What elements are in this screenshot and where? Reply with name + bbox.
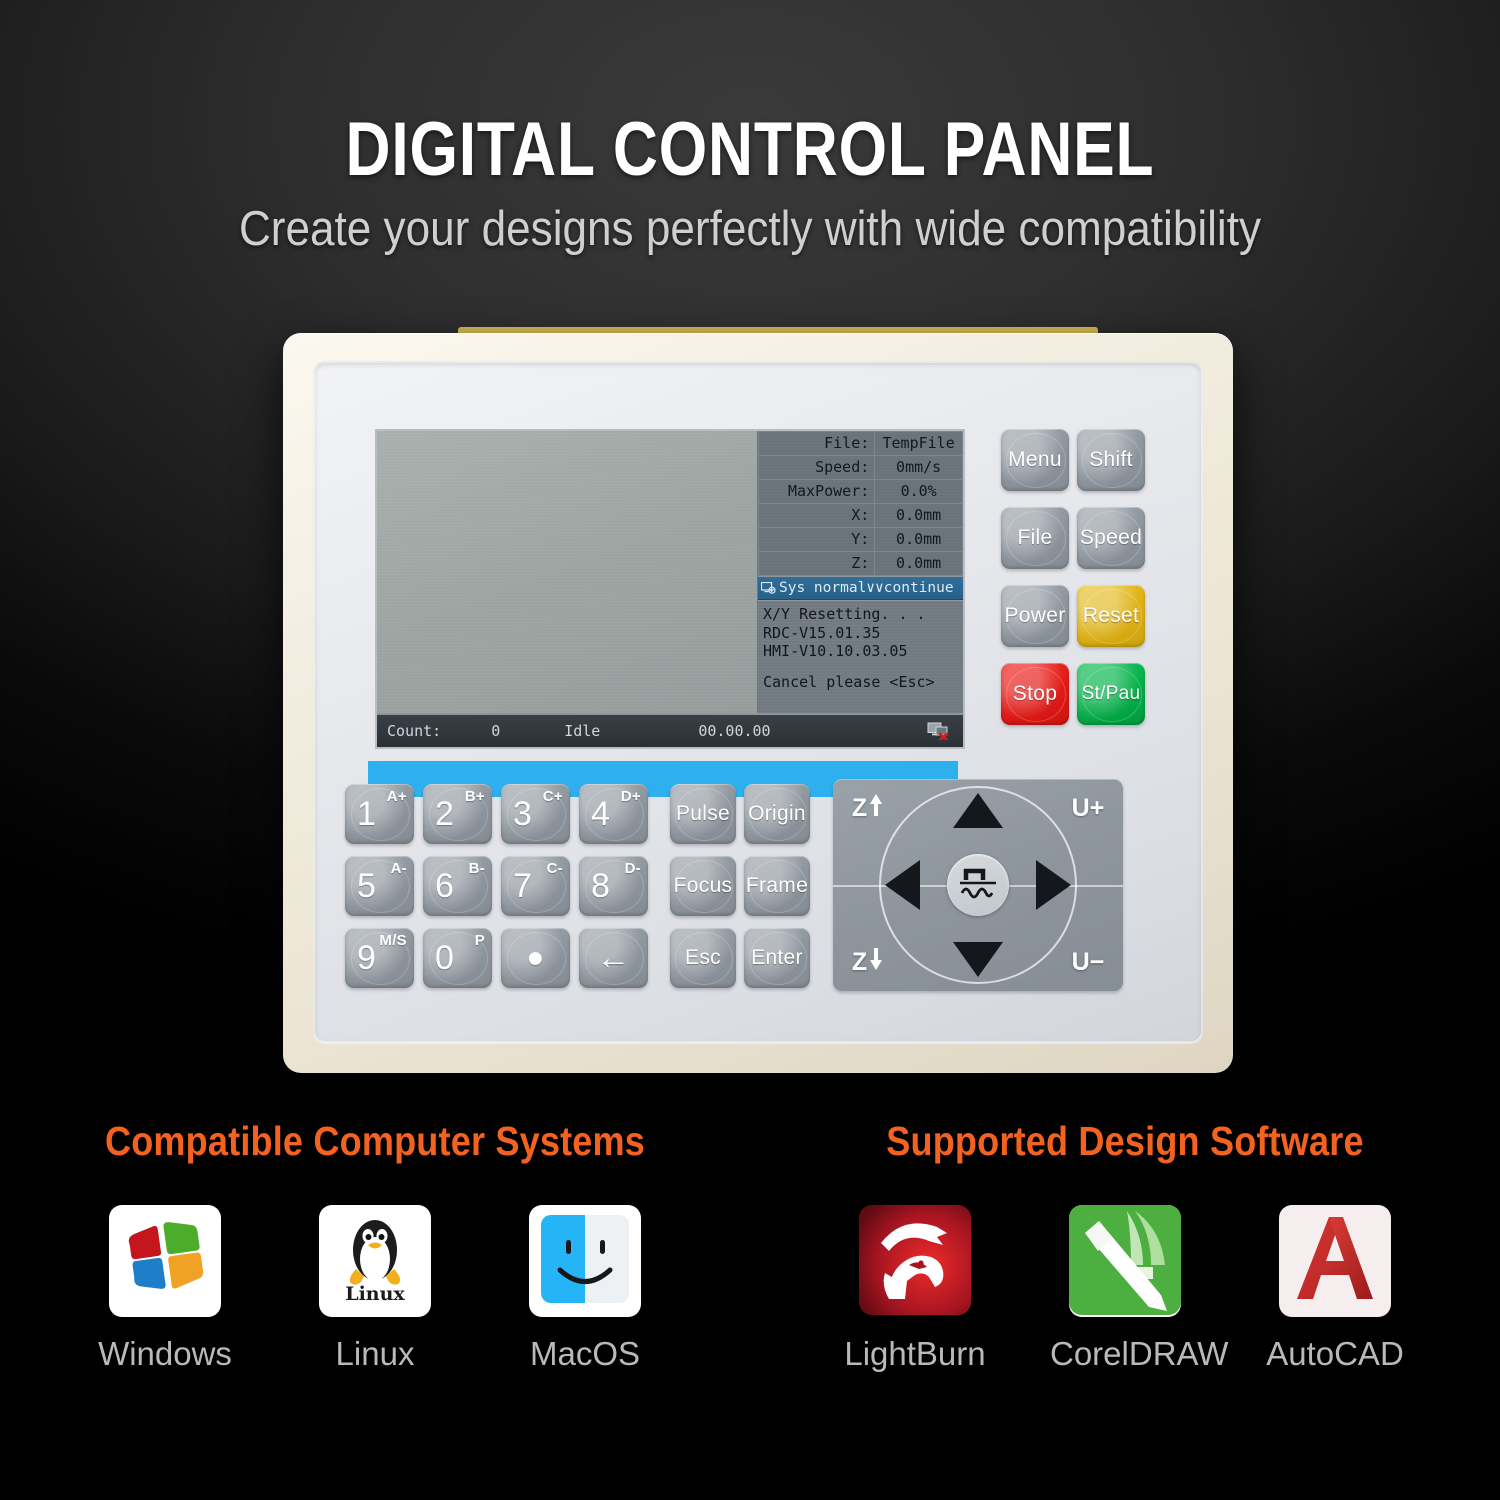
- origin-button[interactable]: Origin: [744, 784, 810, 844]
- device-face: File: TempFile Speed: 0mm/s MaxPower: 0.…: [313, 361, 1203, 1043]
- param-key: Speed:: [759, 456, 875, 480]
- lightburn-logo-tile: [859, 1205, 971, 1317]
- count-label: Count:: [387, 722, 441, 740]
- key-shift-label: A-: [391, 860, 407, 877]
- key-digit: 9: [357, 939, 376, 978]
- button-label: Shift: [1089, 448, 1133, 472]
- frame-button[interactable]: Frame: [744, 856, 810, 916]
- param-value: 0.0mm: [875, 504, 963, 528]
- table-row: File: TempFile: [759, 432, 963, 456]
- list-item: CorelDRAW: [1050, 1205, 1200, 1373]
- list-item: Linux Linux: [300, 1205, 450, 1373]
- start-pause-button[interactable]: St/Pau: [1077, 663, 1145, 725]
- numeric-key-1[interactable]: 1 A+: [345, 784, 414, 844]
- u-minus-button[interactable]: U−: [1061, 941, 1115, 983]
- key-digit: 6: [435, 867, 454, 906]
- pulse-waveform-button[interactable]: [947, 854, 1009, 916]
- windows-logo-tile: [109, 1205, 221, 1317]
- enter-button[interactable]: Enter: [744, 928, 810, 988]
- os-label: Windows: [90, 1335, 240, 1373]
- log-line: RDC-V15.01.35: [763, 624, 959, 643]
- list-item: Windows: [90, 1205, 240, 1373]
- systems-logo-row: Windows: [0, 1205, 750, 1373]
- list-item: MacOS: [510, 1205, 660, 1373]
- software-heading: Supported Design Software: [795, 1118, 1455, 1165]
- key-digit: 1: [357, 795, 376, 834]
- key-digit: 7: [513, 867, 532, 906]
- autocad-logo-tile: [1279, 1205, 1391, 1317]
- speed-button[interactable]: Speed: [1077, 507, 1145, 569]
- backspace-key[interactable]: ←: [579, 928, 648, 988]
- key-shift-label: D-: [625, 860, 641, 877]
- linux-tux-icon: Linux: [332, 1214, 418, 1309]
- param-key: Y:: [759, 528, 875, 552]
- macos-finder-icon: [539, 1213, 631, 1310]
- compatible-systems-column: Compatible Computer Systems: [0, 1118, 750, 1373]
- u-minus-label: U−: [1072, 948, 1105, 977]
- lcd-screen: File: TempFile Speed: 0mm/s MaxPower: 0.…: [375, 429, 965, 749]
- decimal-point-key[interactable]: ●: [501, 928, 570, 988]
- arrow-up-button[interactable]: [953, 793, 1003, 828]
- lcd-status-text: Sys normal∨∨continue: [779, 580, 954, 596]
- param-key: Z:: [759, 552, 875, 576]
- svg-text:Linux: Linux: [345, 1283, 405, 1304]
- key-digit: 3: [513, 795, 532, 834]
- autocad-a-icon: [1285, 1209, 1385, 1314]
- promo-page: DIGITAL CONTROL PANEL Create your design…: [0, 0, 1500, 1500]
- key-digit: ●: [526, 941, 544, 975]
- key-digit: 4: [591, 795, 610, 834]
- z-down-label: Z: [852, 948, 867, 977]
- stop-button[interactable]: Stop: [1001, 663, 1069, 725]
- log-line: X/Y Resetting. . .: [763, 605, 959, 624]
- page-title: DIGITAL CONTROL PANEL: [135, 108, 1365, 192]
- page-subtitle: Create your designs perfectly with wide …: [75, 200, 1425, 258]
- param-value: 0.0mm: [875, 528, 963, 552]
- software-label: LightBurn: [840, 1335, 990, 1373]
- numeric-key-7[interactable]: 7 C-: [501, 856, 570, 916]
- control-panel-device: File: TempFile Speed: 0mm/s MaxPower: 0.…: [283, 333, 1233, 1073]
- lightburn-dragon-icon: [859, 1205, 971, 1317]
- supported-software-column: Supported Design Software: [750, 1118, 1500, 1373]
- button-label: Menu: [1008, 448, 1062, 472]
- arrow-down-button[interactable]: [953, 942, 1003, 977]
- key-digit: 2: [435, 795, 454, 834]
- direction-pad[interactable]: Z Z U+: [833, 779, 1123, 991]
- power-button[interactable]: Power: [1001, 585, 1069, 647]
- param-key: X:: [759, 504, 875, 528]
- os-label: Linux: [300, 1335, 450, 1373]
- arrow-right-button[interactable]: [1036, 860, 1071, 910]
- arrow-down-icon: [868, 947, 884, 978]
- header: DIGITAL CONTROL PANEL Create your design…: [0, 108, 1500, 258]
- arrow-left-button[interactable]: [885, 860, 920, 910]
- param-value: 0.0mm: [875, 552, 963, 576]
- z-down-button[interactable]: Z: [841, 941, 895, 983]
- numeric-key-3[interactable]: 3 C+: [501, 784, 570, 844]
- count-value: 0: [491, 722, 500, 740]
- log-line: Cancel please <Esc>: [763, 673, 959, 692]
- lcd-status-bar: Sys normal∨∨continue: [758, 576, 963, 600]
- numeric-key-8[interactable]: 8 D-: [579, 856, 648, 916]
- log-spacer: [763, 661, 959, 673]
- key-digit: 8: [591, 867, 610, 906]
- key-shift-label: B+: [465, 788, 485, 805]
- software-logo-row: LightBurn: [750, 1205, 1500, 1373]
- param-key: File:: [759, 432, 875, 456]
- table-row: X: 0.0mm: [759, 504, 963, 528]
- param-value: 0mm/s: [875, 456, 963, 480]
- log-line: HMI-V10.10.03.05: [763, 642, 959, 661]
- pc-disconnected-icon: [927, 722, 949, 740]
- macos-logo-tile: [529, 1205, 641, 1317]
- key-digit: ←: [596, 939, 630, 978]
- numeric-key-5[interactable]: 5 A-: [345, 856, 414, 916]
- button-label: Power: [1004, 604, 1065, 628]
- param-value: TempFile: [875, 432, 963, 456]
- lcd-body: File: TempFile Speed: 0mm/s MaxPower: 0.…: [377, 431, 963, 713]
- elapsed-time: 00.00.00: [698, 722, 770, 740]
- z-up-label: Z: [852, 794, 867, 823]
- button-label: St/Pau: [1082, 683, 1141, 705]
- key-digit: 5: [357, 867, 376, 906]
- button-label: Focus: [674, 874, 733, 898]
- table-row: Y: 0.0mm: [759, 528, 963, 552]
- systems-heading: Compatible Computer Systems: [45, 1118, 705, 1165]
- u-plus-button[interactable]: U+: [1061, 787, 1115, 829]
- button-label: Enter: [751, 946, 803, 970]
- button-label: Esc: [685, 946, 721, 970]
- coreldraw-balloon-icon: [1069, 1205, 1181, 1317]
- parameter-table: File: TempFile Speed: 0mm/s MaxPower: 0.…: [758, 431, 963, 576]
- key-shift-label: C-: [547, 860, 563, 877]
- key-shift-label: C+: [543, 788, 563, 805]
- shift-button[interactable]: Shift: [1077, 429, 1145, 491]
- esc-button[interactable]: Esc: [670, 928, 736, 988]
- lcd-bottom-bar: Count: 0 Idle 00.00.00: [377, 713, 963, 747]
- param-value: 0.0%: [875, 480, 963, 504]
- lcd-work-area: [377, 431, 758, 713]
- compatibility-section: Compatible Computer Systems: [0, 1118, 1500, 1373]
- key-digit: 0: [435, 939, 454, 978]
- pulse-waveform-icon: [957, 863, 999, 908]
- software-label: AutoCAD: [1260, 1335, 1410, 1373]
- table-row: Speed: 0mm/s: [759, 456, 963, 480]
- monitor-ok-icon: [761, 582, 776, 594]
- button-label: Reset: [1083, 604, 1139, 628]
- file-button[interactable]: File: [1001, 507, 1069, 569]
- button-label: Stop: [1013, 682, 1057, 706]
- lcd-log-area: X/Y Resetting. . . RDC-V15.01.35 HMI-V10…: [758, 600, 963, 713]
- coreldraw-logo-tile: [1069, 1205, 1181, 1317]
- key-shift-label: B-: [469, 860, 485, 877]
- linux-logo-tile: Linux: [319, 1205, 431, 1317]
- key-shift-label: P: [475, 932, 485, 949]
- z-up-button[interactable]: Z: [841, 787, 895, 829]
- button-label: File: [1017, 526, 1052, 550]
- menu-button[interactable]: Menu: [1001, 429, 1069, 491]
- lcd-parameter-panel: File: TempFile Speed: 0mm/s MaxPower: 0.…: [758, 431, 963, 713]
- numeric-key-9[interactable]: 9 M/S: [345, 928, 414, 988]
- os-label: MacOS: [510, 1335, 660, 1373]
- arrow-up-icon: [868, 793, 884, 824]
- button-label: Origin: [748, 802, 806, 826]
- software-label: CorelDRAW: [1050, 1335, 1200, 1373]
- param-key: MaxPower:: [759, 480, 875, 504]
- reset-button[interactable]: Reset: [1077, 585, 1145, 647]
- focus-button[interactable]: Focus: [670, 856, 736, 916]
- numeric-key-6[interactable]: 6 B-: [423, 856, 492, 916]
- key-shift-label: M/S: [379, 932, 407, 949]
- key-shift-label: A+: [387, 788, 407, 805]
- numeric-key-0[interactable]: 0 P: [423, 928, 492, 988]
- button-label: Speed: [1080, 526, 1142, 550]
- list-item: AutoCAD: [1260, 1205, 1410, 1373]
- numeric-key-2[interactable]: 2 B+: [423, 784, 492, 844]
- table-row: Z: 0.0mm: [759, 552, 963, 576]
- machine-state: Idle: [564, 722, 600, 740]
- pulse-button[interactable]: Pulse: [670, 784, 736, 844]
- u-plus-label: U+: [1072, 794, 1105, 823]
- button-label: Frame: [746, 874, 808, 898]
- windows-logo-icon: [122, 1218, 208, 1305]
- table-row: MaxPower: 0.0%: [759, 480, 963, 504]
- list-item: LightBurn: [840, 1205, 990, 1373]
- key-shift-label: D+: [621, 788, 641, 805]
- button-label: Pulse: [676, 802, 730, 826]
- numeric-key-4[interactable]: 4 D+: [579, 784, 648, 844]
